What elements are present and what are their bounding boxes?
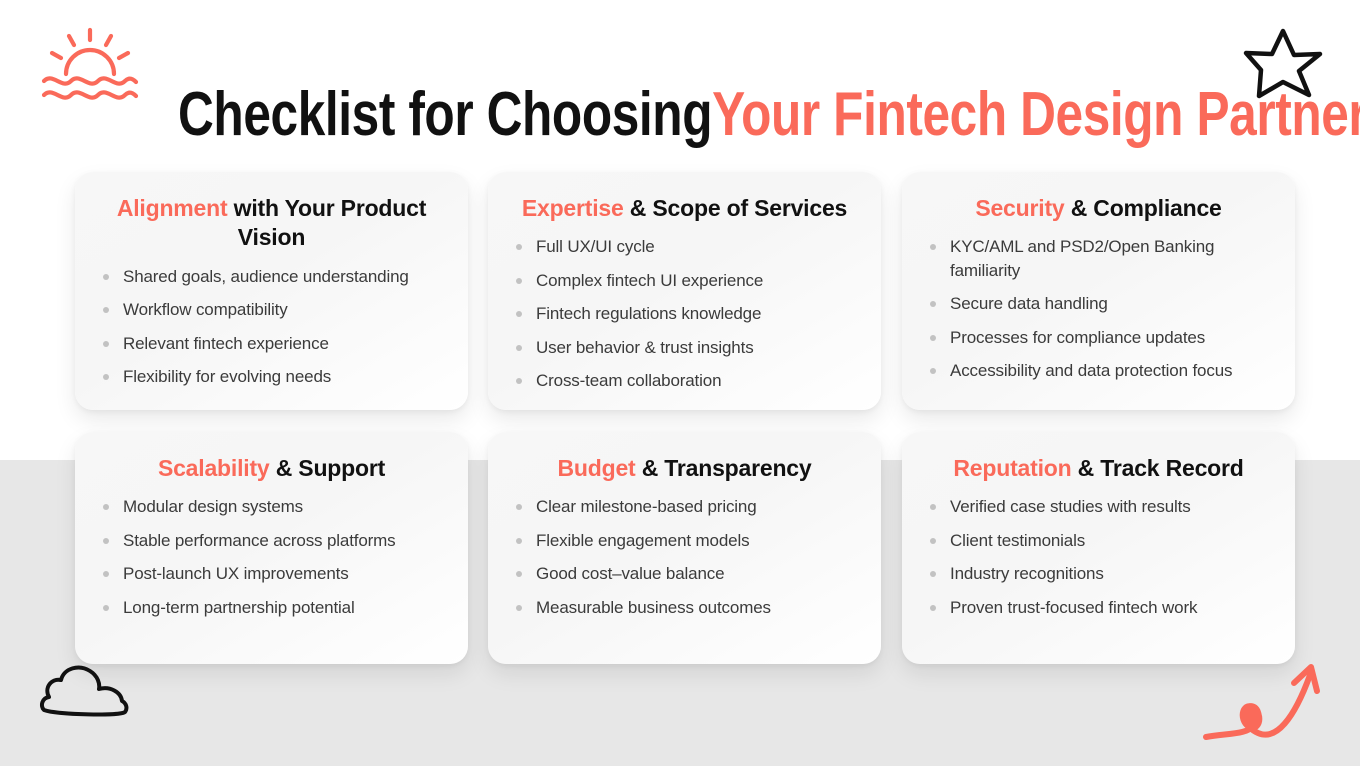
card-title: Reputation & Track Record — [926, 454, 1271, 483]
card-title-accent: Security — [975, 195, 1064, 221]
list-item: Clear milestone-based pricing — [512, 495, 857, 518]
list-item: Workflow compatibility — [99, 298, 444, 321]
bullet-dot-icon — [930, 368, 936, 374]
list-item-label: Client testimonials — [950, 531, 1085, 550]
list-item-label: Cross-team collaboration — [536, 371, 721, 390]
list-item-label: User behavior & trust insights — [536, 338, 754, 357]
bullet-dot-icon — [103, 605, 109, 611]
card-title-accent: Reputation — [953, 455, 1071, 481]
card-bullet-list: KYC/AML and PSD2/Open Banking familiarit… — [926, 235, 1271, 382]
card-scalability[interactable]: Scalability & Support Modular design sys… — [75, 432, 468, 664]
list-item-label: Flexible engagement models — [536, 531, 749, 550]
list-item: KYC/AML and PSD2/Open Banking familiarit… — [926, 235, 1271, 282]
bullet-dot-icon — [516, 345, 522, 351]
bullet-dot-icon — [103, 274, 109, 280]
page-title: Checklist for Choosing Your Fintech Desi… — [178, 72, 1002, 158]
card-expertise[interactable]: Expertise & Scope of Services Full UX/UI… — [488, 172, 881, 410]
list-item-label: Stable performance across platforms — [123, 531, 396, 550]
list-item: Flexibility for evolving needs — [99, 365, 444, 388]
list-item: User behavior & trust insights — [512, 336, 857, 359]
list-item: Cross-team collaboration — [512, 369, 857, 392]
card-bullet-list: Modular design systems Stable performanc… — [99, 495, 444, 619]
list-item: Verified case studies with results — [926, 495, 1271, 518]
card-title-rest: & Support — [270, 455, 386, 481]
list-item-label: Clear milestone-based pricing — [536, 497, 757, 516]
bullet-dot-icon — [930, 538, 936, 544]
card-bullet-list: Full UX/UI cycle Complex fintech UI expe… — [512, 235, 857, 392]
card-title: Expertise & Scope of Services — [512, 194, 857, 223]
list-item: Complex fintech UI experience — [512, 269, 857, 292]
bullet-dot-icon — [516, 244, 522, 250]
header: Checklist for Choosing Your Fintech Desi… — [0, 0, 1360, 145]
list-item: Modular design systems — [99, 495, 444, 518]
list-item: Long-term partnership potential — [99, 596, 444, 619]
card-title-accent: Scalability — [158, 455, 270, 481]
cloud-outline-icon — [38, 662, 138, 729]
list-item-label: Fintech regulations knowledge — [536, 304, 761, 323]
list-item-label: Measurable business outcomes — [536, 598, 771, 617]
list-item-label: Workflow compatibility — [123, 300, 288, 319]
list-item: Stable performance across platforms — [99, 529, 444, 552]
bullet-dot-icon — [103, 571, 109, 577]
bullet-dot-icon — [516, 538, 522, 544]
list-item: Industry recognitions — [926, 562, 1271, 585]
list-item-label: Industry recognitions — [950, 564, 1104, 583]
card-title-accent: Alignment — [117, 195, 228, 221]
list-item-label: Processes for compliance updates — [950, 328, 1205, 347]
bullet-dot-icon — [930, 571, 936, 577]
bullet-dot-icon — [516, 278, 522, 284]
card-title-accent: Budget — [558, 455, 636, 481]
card-bullet-list: Shared goals, audience understanding Wor… — [99, 265, 444, 389]
list-item-label: Full UX/UI cycle — [536, 237, 655, 256]
list-item-label: Modular design systems — [123, 497, 303, 516]
bullet-dot-icon — [516, 311, 522, 317]
card-security[interactable]: Security & Compliance KYC/AML and PSD2/O… — [902, 172, 1295, 410]
list-item: Shared goals, audience understanding — [99, 265, 444, 288]
curved-up-arrow-icon — [1198, 645, 1333, 760]
bullet-dot-icon — [516, 571, 522, 577]
list-item-label: Post-launch UX improvements — [123, 564, 349, 583]
bullet-dot-icon — [103, 374, 109, 380]
list-item-label: Good cost–value balance — [536, 564, 724, 583]
list-item-label: Proven trust-focused fintech work — [950, 598, 1197, 617]
bullet-dot-icon — [516, 504, 522, 510]
list-item: Flexible engagement models — [512, 529, 857, 552]
list-item: Relevant fintech experience — [99, 332, 444, 355]
list-item: Secure data handling — [926, 292, 1271, 315]
card-title-rest: with Your Product Vision — [227, 195, 426, 250]
list-item: Full UX/UI cycle — [512, 235, 857, 258]
list-item-label: Secure data handling — [950, 294, 1108, 313]
list-item-label: Flexibility for evolving needs — [123, 367, 331, 386]
list-item: Good cost–value balance — [512, 562, 857, 585]
bullet-dot-icon — [103, 504, 109, 510]
bullet-dot-icon — [930, 605, 936, 611]
bullet-dot-icon — [930, 335, 936, 341]
list-item: Accessibility and data protection focus — [926, 359, 1271, 382]
card-title-accent: Expertise — [522, 195, 624, 221]
card-title-rest: & Scope of Services — [624, 195, 848, 221]
list-item-label: Shared goals, audience understanding — [123, 267, 409, 286]
list-item: Client testimonials — [926, 529, 1271, 552]
card-title-rest: & Transparency — [636, 455, 812, 481]
card-budget[interactable]: Budget & Transparency Clear milestone-ba… — [488, 432, 881, 664]
bullet-dot-icon — [930, 244, 936, 250]
bullet-dot-icon — [516, 378, 522, 384]
card-title-rest: & Compliance — [1065, 195, 1222, 221]
list-item: Processes for compliance updates — [926, 326, 1271, 349]
list-item-label: KYC/AML and PSD2/Open Banking familiarit… — [950, 237, 1214, 279]
list-item-label: Complex fintech UI experience — [536, 271, 763, 290]
list-item: Measurable business outcomes — [512, 596, 857, 619]
list-item-label: Accessibility and data protection focus — [950, 361, 1232, 380]
bullet-dot-icon — [103, 341, 109, 347]
page-title-dark: Checklist for Choosing — [178, 84, 712, 146]
card-alignment[interactable]: Alignment with Your Product Vision Share… — [75, 172, 468, 410]
card-bullet-list: Verified case studies with results Clien… — [926, 495, 1271, 619]
list-item-label: Relevant fintech experience — [123, 334, 329, 353]
list-item: Fintech regulations knowledge — [512, 302, 857, 325]
list-item-label: Long-term partnership potential — [123, 598, 355, 617]
star-outline-icon — [1243, 26, 1323, 109]
card-bullet-list: Clear milestone-based pricing Flexible e… — [512, 495, 857, 619]
bullet-dot-icon — [103, 307, 109, 313]
list-item: Post-launch UX improvements — [99, 562, 444, 585]
card-reputation[interactable]: Reputation & Track Record Verified case … — [902, 432, 1295, 664]
bullet-dot-icon — [930, 301, 936, 307]
card-title-rest: & Track Record — [1071, 455, 1243, 481]
list-item: Proven trust-focused fintech work — [926, 596, 1271, 619]
card-title: Alignment with Your Product Vision — [99, 194, 444, 253]
sunrise-waves-icon — [40, 24, 140, 111]
card-title: Scalability & Support — [99, 454, 444, 483]
card-title: Budget & Transparency — [512, 454, 857, 483]
card-title: Security & Compliance — [926, 194, 1271, 223]
bullet-dot-icon — [103, 538, 109, 544]
bullet-dot-icon — [930, 504, 936, 510]
list-item-label: Verified case studies with results — [950, 497, 1191, 516]
bullet-dot-icon — [516, 605, 522, 611]
